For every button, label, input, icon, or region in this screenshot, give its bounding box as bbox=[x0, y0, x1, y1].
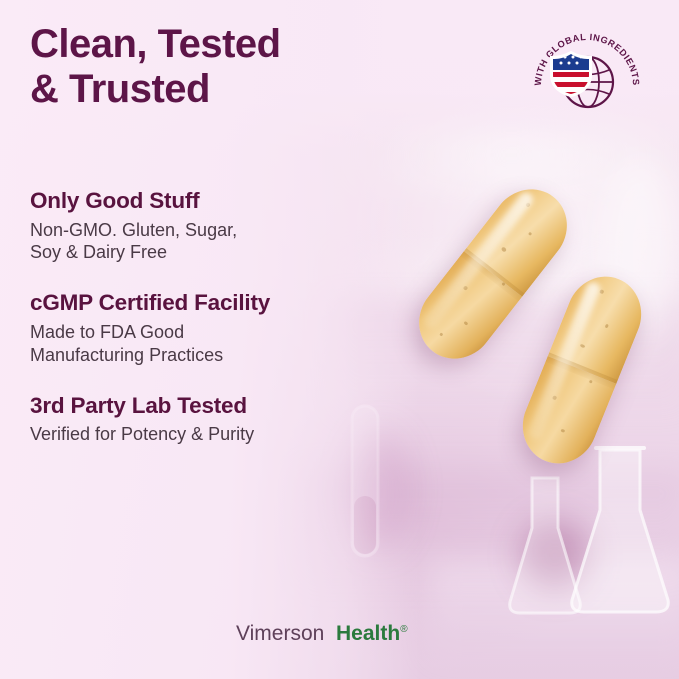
capsule-product-image bbox=[505, 272, 679, 472]
feature-description-line: Manufacturing Practices bbox=[30, 344, 370, 367]
feature-title: 3rd Party Lab Tested bbox=[30, 393, 370, 420]
product-infographic: Clean, Tested & Trusted Only Good Stuff … bbox=[0, 0, 679, 679]
feature-description: Made to FDA Good Manufacturing Practices bbox=[30, 321, 370, 367]
feature-item: 3rd Party Lab Tested Verified for Potenc… bbox=[30, 393, 370, 446]
feature-title: Only Good Stuff bbox=[30, 188, 370, 215]
global-ingredients-badge: WITH GLOBAL INGREDIENTS bbox=[528, 24, 646, 142]
feature-title: cGMP Certified Facility bbox=[30, 290, 370, 317]
feature-description-line: Non-GMO. Gluten, Sugar, bbox=[30, 219, 370, 242]
headline-line-1: Clean, Tested bbox=[30, 22, 430, 67]
brand-logo: Vimerson Health® bbox=[236, 622, 408, 646]
feature-description-line: Made to FDA Good bbox=[30, 321, 370, 344]
feature-item: cGMP Certified Facility Made to FDA Good… bbox=[30, 290, 370, 366]
brand-word-2: Health bbox=[336, 622, 400, 645]
feature-description: Verified for Potency & Purity bbox=[30, 423, 370, 446]
brand-word-1: Vimerson bbox=[236, 622, 324, 645]
feature-description-line: Verified for Potency & Purity bbox=[30, 423, 370, 446]
registered-trademark-symbol: ® bbox=[400, 624, 407, 635]
usa-flag-icon bbox=[548, 50, 594, 98]
feature-description: Non-GMO. Gluten, Sugar, Soy & Dairy Free bbox=[30, 219, 370, 265]
feature-description-line: Soy & Dairy Free bbox=[30, 241, 370, 264]
headline-line-2: & Trusted bbox=[30, 67, 430, 112]
erlenmeyer-flask-icon bbox=[500, 470, 590, 620]
page-title: Clean, Tested & Trusted bbox=[30, 22, 430, 112]
feature-list: Only Good Stuff Non-GMO. Gluten, Sugar, … bbox=[30, 188, 370, 472]
feature-item: Only Good Stuff Non-GMO. Gluten, Sugar, … bbox=[30, 188, 370, 264]
